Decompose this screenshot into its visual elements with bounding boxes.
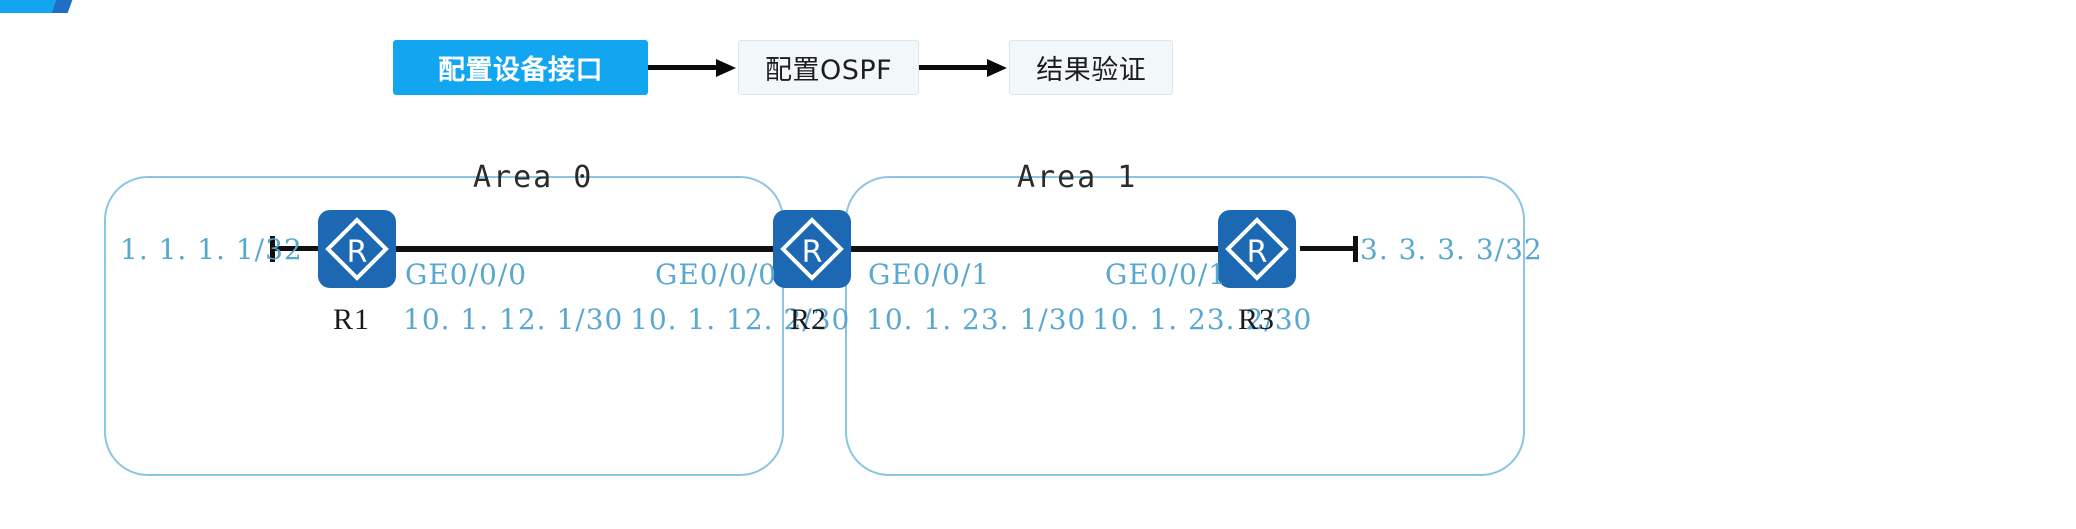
loopback-address-r1: 1. 1. 1. 1/32 [120, 233, 303, 266]
router-icon-r1[interactable]: R [318, 210, 396, 288]
flow-arrow-2-icon [919, 63, 1009, 73]
router-label-r1: R1 [333, 303, 370, 337]
interface-name-r2-ge0-0-1: GE0/0/1 [868, 258, 990, 291]
step-configure-ospf[interactable]: 配置OSPF [738, 40, 919, 95]
loopback-address-r3: 3. 3. 3. 3/32 [1360, 233, 1543, 266]
svg-text:R: R [1247, 235, 1268, 270]
flow-arrow-2-shaft [919, 65, 991, 70]
router-icon-r3[interactable]: R [1218, 210, 1296, 288]
loopback-stub-r3 [1300, 246, 1358, 251]
flow-arrow-2-head [987, 59, 1007, 77]
router-label-r3: R3 [1238, 303, 1275, 337]
interface-name-r1-ge0-0-0: GE0/0/0 [405, 258, 527, 291]
brand-logo [0, 0, 92, 16]
flow-arrow-1-shaft [648, 65, 720, 70]
link-r1-r2 [380, 246, 800, 252]
interface-address-r3-ge0-0-1: 10. 1. 23. 2/30 [1092, 303, 1312, 336]
router-label-r2: R2 [790, 303, 827, 337]
interface-address-r2-ge0-0-1: 10. 1. 23. 1/30 [866, 303, 1086, 336]
interface-name-r2-ge0-0-0: GE0/0/0 [655, 258, 777, 291]
flow-arrow-1-icon [648, 63, 738, 73]
link-r2-r3 [845, 246, 1265, 252]
interface-name-r3-ge0-0-1: GE0/0/1 [1105, 258, 1227, 291]
area-1-label: Area 1 [1017, 160, 1137, 195]
step-configure-interfaces[interactable]: 配置设备接口 [393, 40, 648, 95]
flow-arrow-1-head [716, 59, 736, 77]
step-result-verification[interactable]: 结果验证 [1009, 40, 1173, 95]
interface-address-r1-ge0-0-0: 10. 1. 12. 1/30 [403, 303, 623, 336]
logo-tick-shape [52, 0, 73, 13]
svg-text:R: R [347, 235, 368, 270]
step-flow: 配置设备接口 配置OSPF 结果验证 [393, 40, 1173, 95]
area-0-label: Area 0 [473, 160, 593, 195]
router-icon-r2[interactable]: R [773, 210, 851, 288]
svg-text:R: R [802, 235, 823, 270]
loopback-stub-cap-r3 [1353, 236, 1358, 262]
